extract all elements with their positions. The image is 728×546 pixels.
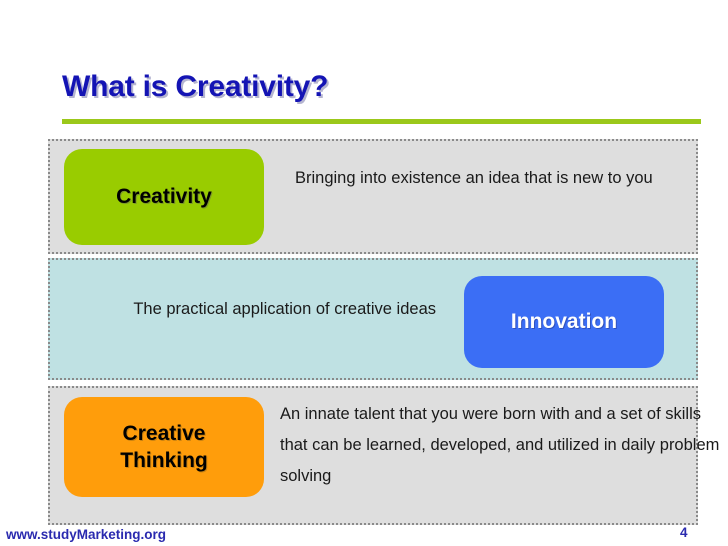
concept-pill-innovation[interactable]: Innovation [464, 276, 664, 368]
footer-page-number: 4 [680, 525, 688, 540]
concept-description-creativity: Bringing into existence an idea that is … [295, 163, 675, 194]
concept-description-innovation: The practical application of creative id… [88, 294, 436, 325]
concept-pill-creative-thinking-line1: Creative [123, 420, 206, 447]
concept-row-innovation: The practical application of creative id… [48, 258, 698, 380]
concept-row-creative-thinking: Creative Thinking An innate talent that … [48, 386, 698, 525]
page-title: What is Creativity? [62, 70, 328, 104]
footer-site-url[interactable]: www.studyMarketing.org [6, 527, 166, 542]
title-underline-rule [62, 119, 701, 124]
slide-canvas: What is Creativity? Creativity Bringing … [0, 0, 728, 546]
concept-pill-creative-thinking-line2: Thinking [120, 447, 208, 474]
concept-row-creativity: Creativity Bringing into existence an id… [48, 139, 698, 254]
concept-description-creative-thinking: An innate talent that you were born with… [280, 399, 720, 492]
concept-pill-creativity[interactable]: Creativity [64, 149, 264, 245]
concept-pill-creative-thinking[interactable]: Creative Thinking [64, 397, 264, 497]
